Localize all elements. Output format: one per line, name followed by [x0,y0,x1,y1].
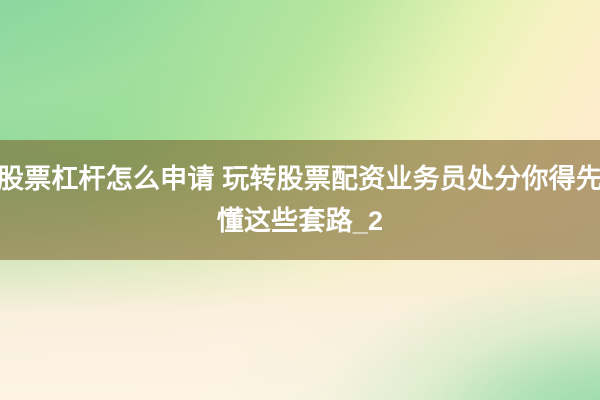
banner-image: 股票杠杆怎么申请 玩转股票配资业务员处分你得先 懂这些套路_2 [0,0,600,400]
page-title-line-2: 懂这些套路_2 [217,201,383,241]
page-title-line-1: 股票杠杆怎么申请 玩转股票配资业务员处分你得先 [0,159,600,199]
page-title: 股票杠杆怎么申请 玩转股票配资业务员处分你得先 懂这些套路_2 [0,140,600,260]
